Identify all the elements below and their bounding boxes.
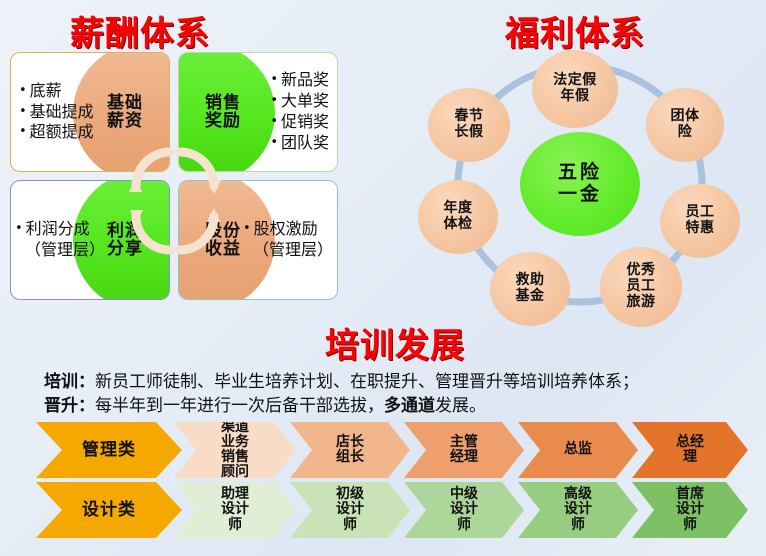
node-text: 险: [678, 124, 693, 140]
node-text: 年度: [444, 200, 473, 216]
node-text: 长假: [455, 124, 484, 140]
chevron-label: 渠道: [221, 420, 249, 435]
node-annual-checkup[interactable]: 年度 体检: [418, 180, 498, 254]
chevron-management-step-4[interactable]: 总监: [518, 422, 638, 478]
chevron-design-step-3[interactable]: 中级 设计 师: [404, 482, 524, 538]
chevron-label: 设计: [564, 502, 592, 517]
chevron-label: 师: [676, 518, 704, 533]
career-path-design: 设计类 助理 设计 师 初级 设计 师 中级 设计 师 高级: [36, 482, 736, 538]
node-text: 基金: [516, 288, 545, 304]
chevron-label: 师: [564, 518, 592, 533]
hub-label-line2: 一金: [558, 183, 602, 205]
chevron-label: 主管: [450, 435, 478, 450]
chevron-label: 管理类: [82, 441, 136, 459]
career-path-management: 管理类 渠道 业务 销售 顾问 店长 组长 主管 经理 总监: [36, 422, 736, 478]
quadrant-equity-gain[interactable]: 股份 收益 股权激励 （管理层）: [178, 180, 338, 300]
training-line-2: 晋升：每半年到一年进行一次后备干部选拔，多通道发展。: [44, 394, 744, 418]
chevron-design-step-2[interactable]: 初级 设计 师: [290, 482, 410, 538]
chevron-management-step-3[interactable]: 主管 经理: [404, 422, 524, 478]
node-text: 旅游: [627, 294, 656, 310]
training-line-1-text: 新员工师徒制、毕业生培养计划、在职提升、管理晋升等培训培养体系；: [95, 372, 639, 392]
chevron-management-step-5[interactable]: 总经 理: [632, 422, 748, 478]
chevron-label: 设计类: [82, 501, 136, 519]
training-line-2-text-b: 发展。: [435, 396, 486, 416]
lobe-sales-incentive: 销售 奖励: [178, 52, 275, 172]
list-item: （管理层）: [15, 240, 105, 261]
chevron-label: 顾问: [221, 465, 249, 480]
quadrant-sales-incentive[interactable]: 销售 奖励 新品奖 大单奖 促销奖 团队奖: [178, 52, 338, 172]
quadrant-profit-sharing[interactable]: 利润 分享 利润分成 （管理层）: [10, 180, 170, 300]
chevron-design-step-4[interactable]: 高级 设计 师: [518, 482, 638, 538]
chevron-management-step-1[interactable]: 渠道 业务 销售 顾问: [174, 422, 296, 478]
node-excellent-employee-travel[interactable]: 优秀 员工 旅游: [600, 247, 682, 327]
chevron-design-step-1[interactable]: 助理 设计 师: [174, 482, 296, 538]
node-employee-discount[interactable]: 员工 特惠: [660, 184, 740, 258]
list-item: 基础提成: [19, 102, 94, 123]
list-item: 新品奖: [270, 70, 329, 91]
node-spring-festival-leave[interactable]: 春节 长假: [428, 88, 510, 162]
node-text: 春节: [455, 108, 484, 124]
training-line-1-label: 培训：: [44, 372, 95, 392]
list-item: 底薪: [19, 81, 94, 102]
node-statutory-leave[interactable]: 法定假 年假: [532, 50, 618, 128]
bullet-list-sales-incentive: 新品奖 大单奖 促销奖 团队奖: [270, 53, 329, 171]
chevron-label: 设计: [336, 502, 364, 517]
node-group-insurance[interactable]: 团体 险: [646, 88, 724, 162]
node-relief-fund[interactable]: 救助 基金: [490, 252, 570, 326]
quadrant-base-salary[interactable]: 基础 薪资 底薪 基础提成 超额提成: [10, 52, 170, 172]
chevron-label: 师: [336, 518, 364, 533]
slide-canvas: 薪酬体系 福利体系 培训发展 基础 薪资 底薪 基础提成 超额提成: [0, 0, 766, 556]
node-text: 员工: [627, 278, 656, 294]
training-section-title: 培训发展: [325, 318, 465, 367]
chevron-label: 店长: [336, 435, 364, 450]
training-line-1: 培训：新员工师徒制、毕业生培养计划、在职提升、管理晋升等培训培养体系；: [44, 370, 744, 394]
list-item: 大单奖: [270, 91, 329, 112]
hub-label-line1: 五险: [558, 161, 602, 183]
chevron-label: 经理: [450, 450, 478, 465]
compensation-section-title: 薪酬体系: [70, 6, 210, 55]
node-text: 优秀: [627, 262, 656, 278]
list-item: 促销奖: [270, 112, 329, 133]
list-item: 利润分成: [15, 219, 105, 240]
benefits-wheel-diagram: 五险 一金 法定假 年假 团体 险 员工 特惠 优秀 员: [404, 44, 756, 316]
node-text: 特惠: [686, 220, 715, 236]
node-text: 员工: [686, 204, 715, 220]
chevron-label: 设计: [676, 502, 704, 517]
chevron-design-step-5[interactable]: 首席 设计 师: [632, 482, 748, 538]
compensation-diagram: 基础 薪资 底薪 基础提成 超额提成 销售 奖励: [10, 52, 340, 304]
list-item: 股权激励: [243, 219, 333, 240]
training-line-2-label: 晋升：: [44, 396, 95, 416]
chevron-management-step-2[interactable]: 店长 组长: [290, 422, 410, 478]
chevron-label: 设计: [221, 502, 249, 517]
node-text: 救助: [516, 272, 545, 288]
chevron-label: 业务: [221, 435, 249, 450]
chevron-label: 师: [221, 518, 249, 533]
chevron-label: 组长: [336, 450, 364, 465]
chevron-label: 师: [450, 518, 478, 533]
chevron-label: 销售: [221, 450, 249, 465]
training-line-2-emphasis: 多通道: [384, 396, 435, 416]
list-item: 超额提成: [19, 122, 94, 143]
chevron-label: 总经: [676, 435, 704, 450]
chevron-label: 设计: [450, 502, 478, 517]
chevron-label: 理: [676, 450, 704, 465]
node-text: 年假: [561, 88, 590, 104]
bullet-list-profit-sharing: 利润分成 （管理层）: [15, 181, 105, 299]
node-text: 体检: [444, 216, 473, 232]
list-item: 团队奖: [270, 133, 329, 154]
chevron-design-head[interactable]: 设计类: [36, 482, 182, 538]
node-text: 团体: [671, 108, 700, 124]
chevron-management-head[interactable]: 管理类: [36, 422, 182, 478]
list-item: （管理层）: [243, 240, 333, 261]
node-text: 法定假: [553, 72, 597, 88]
training-paragraph: 培训：新员工师徒制、毕业生培养计划、在职提升、管理晋升等培训培养体系； 晋升：每…: [44, 370, 744, 418]
bullet-list-base-salary: 底薪 基础提成 超额提成: [19, 53, 94, 171]
bullet-list-equity-gain: 股权激励 （管理层）: [243, 181, 333, 299]
lobe-label-sales-incentive: 销售 奖励: [178, 95, 275, 131]
chevron-label: 总监: [564, 442, 592, 457]
training-line-2-text-a: 每半年到一年进行一次后备干部选拔，: [95, 396, 384, 416]
wheel-hub[interactable]: 五险 一金: [520, 132, 640, 236]
